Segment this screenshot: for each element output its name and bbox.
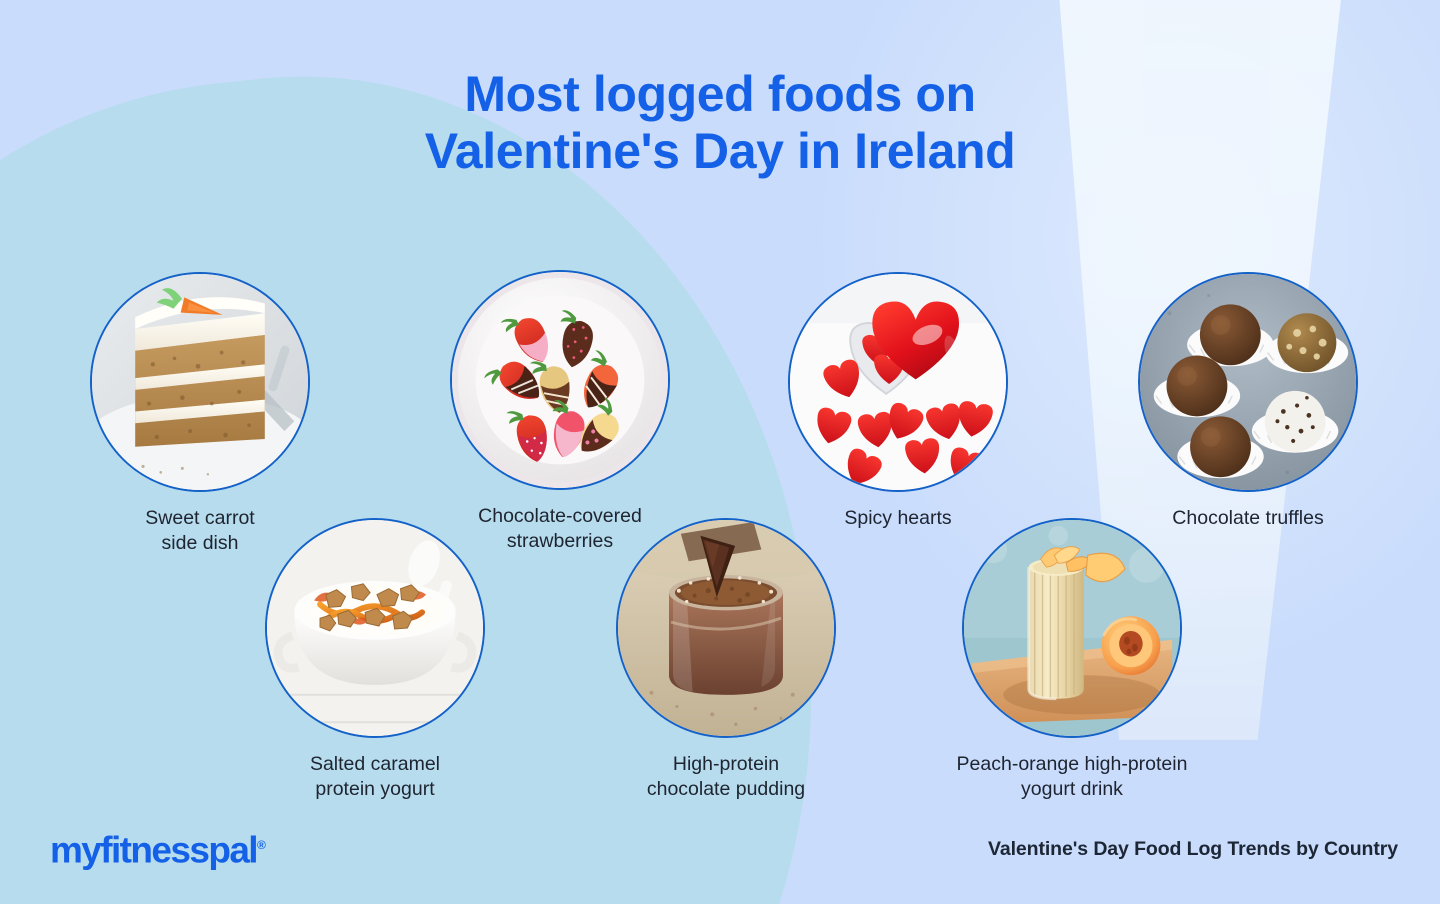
peach-smoothie-glass-photo <box>964 520 1180 736</box>
red-cinnamon-heart-candies-photo <box>790 274 1006 490</box>
logo-trademark-icon: ® <box>257 838 266 852</box>
food-item-spicy-hearts[interactable]: Spicy hearts <box>768 272 1028 531</box>
food-image-circle <box>1138 272 1358 492</box>
food-item-peach-orange-yogurt-drink[interactable]: Peach-orange high-protein yogurt drink <box>942 518 1202 802</box>
food-item-sweet-carrot-side-dish[interactable]: Sweet carrot side dish <box>70 272 330 556</box>
page-title: Most logged foods on Valentine's Day in … <box>0 66 1440 180</box>
food-item-high-protein-chocolate-pudding[interactable]: High-protein chocolate pudding <box>596 518 856 802</box>
food-image-circle <box>962 518 1182 738</box>
myfitnesspal-logo[interactable]: myfitnesspal® <box>50 825 266 870</box>
yogurt-bowl-with-caramel-and-granola-photo <box>267 520 483 736</box>
infographic-page: Most logged foods on Valentine's Day in … <box>0 0 1440 904</box>
food-label: Peach-orange high-protein yogurt drink <box>942 752 1202 802</box>
footer-tagline: Valentine's Day Food Log Trends by Count… <box>988 838 1398 861</box>
food-label: High-protein chocolate pudding <box>596 752 856 802</box>
chocolate-covered-strawberries-photo <box>452 272 668 488</box>
food-label: Salted caramel protein yogurt <box>245 752 505 802</box>
logo-wordmark: myfitnesspal <box>50 829 257 870</box>
chocolate-truffles-photo <box>1140 274 1356 490</box>
food-item-chocolate-truffles[interactable]: Chocolate truffles <box>1118 272 1378 531</box>
food-item-salted-caramel-protein-yogurt[interactable]: Salted caramel protein yogurt <box>245 518 505 802</box>
food-image-circle <box>788 272 1008 492</box>
carrot-cake-slice-photo <box>92 274 308 490</box>
chocolate-pudding-jar-photo <box>618 520 834 736</box>
food-item-chocolate-covered-strawberries[interactable]: Chocolate-covered strawberries <box>430 270 690 554</box>
food-image-circle <box>450 270 670 490</box>
food-image-circle <box>90 272 310 492</box>
food-image-circle <box>265 518 485 738</box>
food-image-circle <box>616 518 836 738</box>
